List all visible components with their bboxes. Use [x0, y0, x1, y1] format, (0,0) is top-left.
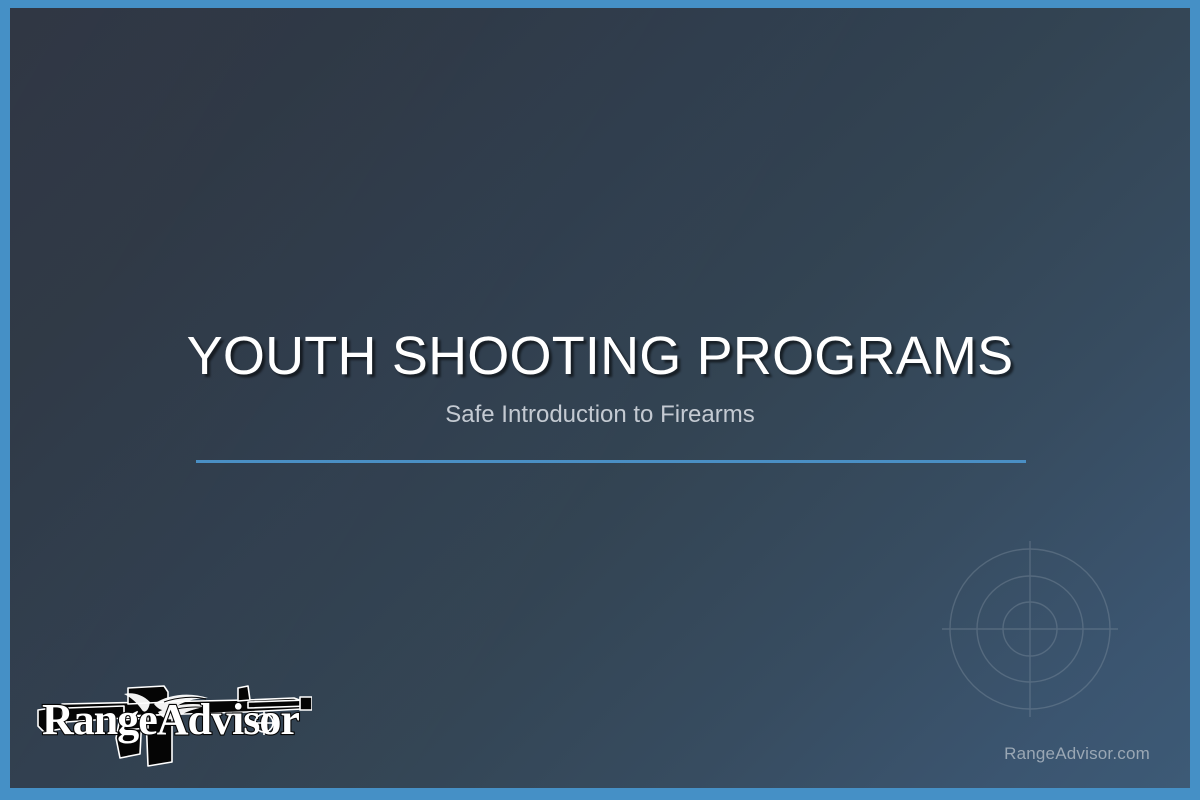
logo-wordmark: RangeAdvisor	[42, 695, 299, 744]
presentation-slide: YOUTH SHOOTING PROGRAMS Safe Introductio…	[0, 0, 1200, 800]
title-block: YOUTH SHOOTING PROGRAMS Safe Introductio…	[100, 328, 1100, 430]
brand-logo: RangeAdvisor	[32, 666, 312, 776]
slide-canvas: YOUTH SHOOTING PROGRAMS Safe Introductio…	[10, 8, 1190, 788]
page-title: YOUTH SHOOTING PROGRAMS	[100, 328, 1100, 385]
page-subtitle: Safe Introduction to Firearms	[100, 401, 1100, 430]
title-divider-rule	[196, 460, 1026, 463]
footer-url-label: RangeAdvisor.com	[1004, 744, 1150, 764]
crosshair-target-icon	[940, 539, 1120, 719]
